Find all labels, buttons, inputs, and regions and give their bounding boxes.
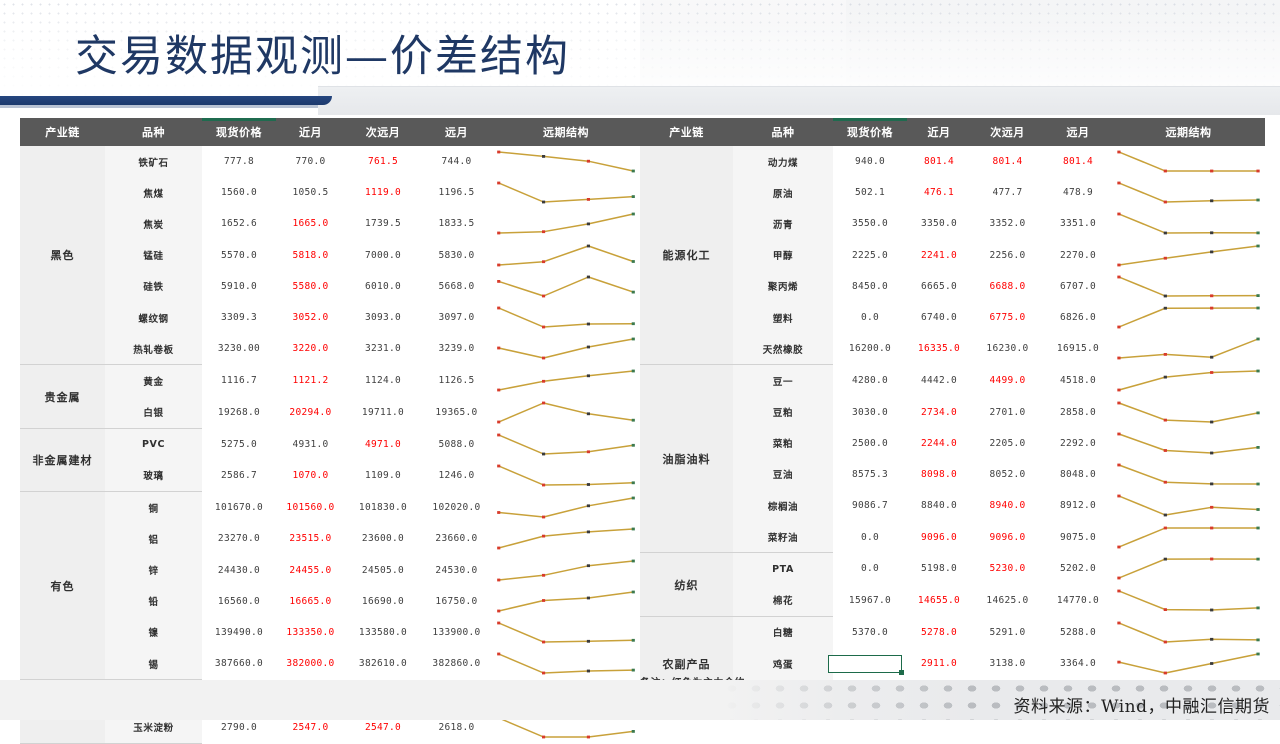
futures-price-table: 产业链品种现货价格近月次远月远月远期结构能源化工动力煤940.0801.4801… [640, 118, 1265, 711]
table-row[interactable]: 菜籽油0.09096.09096.09075.0 [640, 521, 1265, 553]
price-cell-mid: 3138.0 [971, 648, 1044, 679]
forward-curve-sparkline [1112, 241, 1265, 270]
variety-cell: 白银 [105, 397, 202, 429]
price-cell-far: 102020.0 [421, 492, 492, 524]
source-credit: 资料来源：Wind，中融汇信期货 [1014, 692, 1270, 717]
variety-cell: 棕榈油 [733, 490, 833, 521]
forward-curve-sparkline [1112, 523, 1265, 552]
variety-cell: 聚丙烯 [733, 271, 833, 302]
forward-curve-sparkline [492, 587, 640, 616]
price-cell-far: 2858.0 [1044, 397, 1112, 428]
price-cell-far: 3239.0 [421, 333, 492, 365]
price-cell-far: 16750.0 [421, 586, 492, 617]
price-cell-mid: 1124.0 [345, 365, 421, 397]
forward-curve-sparkline [1112, 147, 1265, 176]
table-row[interactable]: 焦炭1652.61665.01739.51833.5 [20, 208, 640, 239]
price-cell-mid: 6688.0 [971, 271, 1044, 302]
chain-cell: 贵金属 [20, 365, 105, 428]
forward-curve-sparkline [492, 303, 640, 332]
column-header-1[interactable]: 品种 [105, 118, 202, 146]
price-cell-mid: 9096.0 [971, 521, 1044, 553]
price-cell-spot: 16200.0 [833, 333, 907, 365]
price-cell-spot: 3550.0 [833, 208, 907, 239]
price-cell-far: 5288.0 [1044, 616, 1112, 648]
price-cell-near: 14655.0 [907, 585, 971, 617]
forward-curve-sparkline [492, 493, 640, 522]
forward-curve-sparkline [1112, 398, 1265, 427]
price-cell-near: 801.4 [907, 146, 971, 177]
variety-cell: 鸡蛋 [733, 648, 833, 679]
variety-cell: 豆粕 [733, 397, 833, 428]
sparkline-cell [1112, 397, 1265, 428]
chain-cell: 油脂油料 [640, 365, 733, 553]
price-cell-mid: 23600.0 [345, 523, 421, 554]
forward-curve-sparkline [492, 430, 640, 459]
variety-cell: 玻璃 [105, 460, 202, 492]
variety-cell: 热轧卷板 [105, 333, 202, 365]
table-header-row: 产业链品种现货价格近月次远月远月远期结构 [640, 118, 1265, 146]
table-row[interactable]: 热轧卷板3230.003220.03231.03239.0 [20, 333, 640, 365]
table-row[interactable]: 甲醇2225.02241.02256.02270.0 [640, 240, 1265, 271]
price-cell-spot: 19268.0 [202, 397, 276, 429]
price-cell-far: 6826.0 [1044, 302, 1112, 333]
variety-cell: 动力煤 [733, 146, 833, 177]
price-cell-mid: 2256.0 [971, 240, 1044, 271]
price-cell-spot: 1560.0 [202, 177, 276, 208]
sparkline-cell [492, 271, 640, 302]
forward-curve-sparkline [492, 334, 640, 363]
price-cell-spot: 16560.0 [202, 586, 276, 617]
table-row[interactable]: 铅16560.016665.016690.016750.0 [20, 586, 640, 617]
sparkline-cell [492, 208, 640, 239]
price-cell-mid: 4499.0 [971, 365, 1044, 397]
column-header-5[interactable]: 远月 [1044, 118, 1112, 146]
price-cell-far: 8912.0 [1044, 490, 1112, 521]
price-cell-far: 478.9 [1044, 177, 1112, 208]
sparkline-cell [1112, 428, 1265, 459]
price-cell-far: 19365.0 [421, 397, 492, 429]
price-cell-near: 6665.0 [907, 271, 971, 302]
chain-cell: 有色 [20, 492, 105, 680]
price-cell-mid: 5230.0 [971, 553, 1044, 585]
table-row[interactable]: 玻璃2586.71070.01109.01246.0 [20, 460, 640, 492]
variety-cell: 铝 [105, 523, 202, 554]
price-cell-spot: 24430.0 [202, 554, 276, 585]
sparkline-cell [492, 523, 640, 554]
table-row[interactable]: 锰硅5570.05818.07000.05830.0 [20, 240, 640, 271]
header-accent-bar [202, 118, 276, 121]
price-cell-near: 3350.0 [907, 208, 971, 239]
price-cell-mid: 5291.0 [971, 616, 1044, 648]
price-cell-spot: 8575.3 [833, 459, 907, 490]
table-row[interactable]: 能源化工动力煤940.0801.4801.4801.4 [640, 146, 1265, 177]
price-cell-far: 5830.0 [421, 240, 492, 271]
chain-cell: 非金属建材 [20, 428, 105, 491]
price-cell-mid: 3352.0 [971, 208, 1044, 239]
price-cell-far: 23660.0 [421, 523, 492, 554]
table-row[interactable]: 油脂油料豆一4280.04442.04499.04518.0 [640, 365, 1265, 397]
table-row[interactable]: 镍139490.0133350.0133580.0133900.0 [20, 617, 640, 648]
table-row[interactable]: 塑料0.06740.06775.06826.0 [640, 302, 1265, 333]
table-row[interactable]: 菜粕2500.02244.02205.02292.0 [640, 428, 1265, 459]
price-cell-near: 133350.0 [276, 617, 345, 648]
variety-cell: 镍 [105, 617, 202, 648]
price-cell-far: 1833.5 [421, 208, 492, 239]
price-cell-near: 24455.0 [276, 554, 345, 585]
price-cell-spot: 5570.0 [202, 240, 276, 271]
column-header-6[interactable]: 远期结构 [1112, 118, 1265, 146]
sparkline-cell [1112, 177, 1265, 208]
column-header-6[interactable]: 远期结构 [492, 118, 640, 146]
table-row[interactable]: 棉花15967.014655.014625.014770.0 [640, 585, 1265, 617]
price-cell-mid: 7000.0 [345, 240, 421, 271]
price-cell-near: 2241.0 [907, 240, 971, 271]
price-cell-far: 3097.0 [421, 302, 492, 333]
price-cell-near: 4931.0 [276, 428, 345, 460]
column-header-3[interactable]: 近月 [276, 118, 345, 146]
forward-curve-sparkline [492, 524, 640, 553]
price-cell-near: 3220.0 [276, 333, 345, 365]
column-header-2[interactable]: 现货价格 [202, 118, 276, 146]
price-cell-spot: 4280.0 [833, 365, 907, 397]
price-cell-far: 9075.0 [1044, 521, 1112, 553]
price-cell-far: 3364.0 [1044, 648, 1112, 679]
price-cell-mid: 1119.0 [345, 177, 421, 208]
table-row[interactable]: 白银19268.020294.019711.019365.0 [20, 397, 640, 429]
variety-cell: 甲醇 [733, 240, 833, 271]
futures-price-table: 产业链品种现货价格近月次远月远月远期结构黑色铁矿石777.8770.0761.5… [20, 118, 640, 744]
price-cell-near: 5198.0 [907, 553, 971, 585]
forward-curve-sparkline [1112, 178, 1265, 207]
price-cell-spot: 23270.0 [202, 523, 276, 554]
sparkline-cell [1112, 365, 1265, 397]
column-header-2[interactable]: 现货价格 [833, 118, 907, 146]
price-cell-mid: 477.7 [971, 177, 1044, 208]
forward-curve-sparkline [1112, 334, 1265, 363]
price-cell-mid: 2205.0 [971, 428, 1044, 459]
price-cell-mid: 2701.0 [971, 397, 1044, 428]
price-cell-mid: 101830.0 [345, 492, 421, 524]
table-row[interactable]: 有色铜101670.0101560.0101830.0102020.0 [20, 492, 640, 524]
sparkline-cell [1112, 553, 1265, 585]
sparkline-cell [492, 333, 640, 365]
price-cell-far: 2292.0 [1044, 428, 1112, 459]
price-cell-near: 1121.2 [276, 365, 345, 397]
price-cell-near: 5580.0 [276, 271, 345, 302]
price-cell-far: 3351.0 [1044, 208, 1112, 239]
sparkline-cell [1112, 271, 1265, 302]
table-row[interactable]: 棕榈油9086.78840.08940.08912.0 [640, 490, 1265, 521]
variety-cell: 原油 [733, 177, 833, 208]
forward-curve-sparkline [492, 398, 640, 427]
price-cell-near: 4442.0 [907, 365, 971, 397]
price-cell-spot: 8450.0 [833, 271, 907, 302]
price-cell-mid: 6775.0 [971, 302, 1044, 333]
price-cell-near: 8840.0 [907, 490, 971, 521]
forward-curve-sparkline [492, 366, 640, 395]
price-cell-near: 5818.0 [276, 240, 345, 271]
table-row[interactable]: 纺织PTA0.05198.05230.05202.0 [640, 553, 1265, 585]
price-cell-spot: 2225.0 [833, 240, 907, 271]
variety-cell: 棉花 [733, 585, 833, 617]
sparkline-cell [492, 586, 640, 617]
price-cell-spot: 3030.0 [833, 397, 907, 428]
table-row[interactable]: 豆粕3030.02734.02701.02858.0 [640, 397, 1265, 428]
variety-cell: 焦炭 [105, 208, 202, 239]
price-cell-spot: 9086.7 [833, 490, 907, 521]
forward-curve-sparkline [492, 649, 640, 678]
sparkline-cell [1112, 240, 1265, 271]
variety-cell: 塑料 [733, 302, 833, 333]
variety-cell: 黄金 [105, 365, 202, 397]
price-cell-spot: 502.1 [833, 177, 907, 208]
variety-cell: 菜粕 [733, 428, 833, 459]
price-cell-near: 20294.0 [276, 397, 345, 429]
price-cell-mid: 16690.0 [345, 586, 421, 617]
variety-cell: 焦煤 [105, 177, 202, 208]
price-cell-spot: 15967.0 [833, 585, 907, 617]
price-cell-mid: 4971.0 [345, 428, 421, 460]
forward-curve-sparkline [492, 618, 640, 647]
price-cell-far: 2270.0 [1044, 240, 1112, 271]
price-cell-mid: 16230.0 [971, 333, 1044, 365]
sparkline-cell [1112, 585, 1265, 617]
column-header-4[interactable]: 次远月 [971, 118, 1044, 146]
price-cell-spot: 387660.0 [202, 648, 276, 680]
price-cell-far: 1196.5 [421, 177, 492, 208]
price-cell-near: 3052.0 [276, 302, 345, 333]
sparkline-cell [1112, 208, 1265, 239]
table-row[interactable]: 天然橡胶16200.016335.016230.016915.0 [640, 333, 1265, 365]
variety-cell: 锡 [105, 648, 202, 680]
price-cell-spot: 1116.7 [202, 365, 276, 397]
price-cell-far: 4518.0 [1044, 365, 1112, 397]
price-cell-near: 6740.0 [907, 302, 971, 333]
price-cell-mid: 24505.0 [345, 554, 421, 585]
table-row[interactable]: 焦煤1560.01050.51119.01196.5 [20, 177, 640, 208]
column-header-4[interactable]: 次远月 [345, 118, 421, 146]
table-row[interactable]: 锌24430.024455.024505.024530.0 [20, 554, 640, 585]
variety-cell: 豆一 [733, 365, 833, 397]
sparkline-cell [1112, 459, 1265, 490]
price-cell-spot: 139490.0 [202, 617, 276, 648]
price-cell-near: 382000.0 [276, 648, 345, 680]
price-cell-spot: 5910.0 [202, 271, 276, 302]
variety-cell: 锌 [105, 554, 202, 585]
forward-curve-sparkline [1112, 272, 1265, 301]
table-row[interactable]: 硅铁5910.05580.06010.05668.0 [20, 271, 640, 302]
table-row[interactable]: 原油502.1476.1477.7478.9 [640, 177, 1265, 208]
forward-curve-sparkline [492, 556, 640, 585]
forward-curve-sparkline [1112, 618, 1265, 647]
price-cell-mid: 133580.0 [345, 617, 421, 648]
table-row[interactable]: 锡387660.0382000.0382610.0382860.0 [20, 648, 640, 680]
price-cell-spot: 3309.3 [202, 302, 276, 333]
price-cell-near: 476.1 [907, 177, 971, 208]
price-cell-spot: 0.0 [833, 553, 907, 585]
forward-curve-sparkline [1112, 366, 1265, 395]
sparkline-cell [492, 146, 640, 177]
sparkline-cell [1112, 146, 1265, 177]
sparkline-cell [1112, 302, 1265, 333]
column-header-5[interactable]: 远月 [421, 118, 492, 146]
sparkline-cell [492, 240, 640, 271]
forward-curve-sparkline [492, 461, 640, 490]
variety-cell: 天然橡胶 [733, 333, 833, 365]
price-cell-far: 5088.0 [421, 428, 492, 460]
column-header-0[interactable]: 产业链 [640, 118, 733, 146]
variety-cell: 螺纹钢 [105, 302, 202, 333]
chain-cell: 能源化工 [640, 146, 733, 365]
table-row[interactable]: 螺纹钢3309.33052.03093.03097.0 [20, 302, 640, 333]
table-row[interactable]: 贵金属黄金1116.71121.21124.01126.5 [20, 365, 640, 397]
slide-root: 交易数据观测—价差结构 产业链品种现货价格近月次远月远月远期结构黑色铁矿石777… [0, 0, 1280, 720]
price-cell-near: 5278.0 [907, 616, 971, 648]
page-title: 交易数据观测—价差结构 [75, 32, 570, 82]
sparkline-cell [492, 397, 640, 429]
forward-curve-sparkline [1112, 554, 1265, 583]
variety-cell: PVC [105, 428, 202, 460]
price-cell-mid: 19711.0 [345, 397, 421, 429]
price-cell-spot: 5370.0 [833, 616, 907, 648]
price-cell-near: 16665.0 [276, 586, 345, 617]
variety-cell: 铜 [105, 492, 202, 524]
sparkline-cell [1112, 521, 1265, 553]
price-cell-mid: 14625.0 [971, 585, 1044, 617]
chain-cell: 纺织 [640, 553, 733, 616]
price-cell-near: 16335.0 [907, 333, 971, 365]
variety-cell: 铁矿石 [105, 146, 202, 177]
variety-cell: 锰硅 [105, 240, 202, 271]
variety-cell: 豆油 [733, 459, 833, 490]
table-row[interactable]: 豆油8575.38098.08052.08048.0 [640, 459, 1265, 490]
price-cell-far: 5202.0 [1044, 553, 1112, 585]
price-cell-near: 23515.0 [276, 523, 345, 554]
column-header-3[interactable]: 近月 [907, 118, 971, 146]
price-cell-near: 9096.0 [907, 521, 971, 553]
forward-curve-sparkline [492, 147, 640, 176]
table-row[interactable]: 铝23270.023515.023600.023660.0 [20, 523, 640, 554]
price-cell-spot: 777.8 [202, 146, 276, 177]
variety-cell: 铅 [105, 586, 202, 617]
price-cell-spot: 101670.0 [202, 492, 276, 524]
price-cell-spot: 2586.7 [202, 460, 276, 492]
forward-curve-sparkline [492, 272, 640, 301]
sparkline-cell [492, 617, 640, 648]
table-row[interactable]: 黑色铁矿石777.8770.0761.5744.0 [20, 146, 640, 177]
price-cell-far: 133900.0 [421, 617, 492, 648]
price-cell-spot: 0.0 [833, 521, 907, 553]
price-cell-far: 382860.0 [421, 648, 492, 680]
price-cell-mid: 3231.0 [345, 333, 421, 365]
sparkline-cell [1112, 616, 1265, 648]
forward-curve-sparkline [1112, 429, 1265, 458]
price-cell-mid: 8052.0 [971, 459, 1044, 490]
forward-curve-sparkline [1112, 586, 1265, 615]
price-cell-near: 1050.5 [276, 177, 345, 208]
table-row[interactable]: 非金属建材PVC5275.04931.04971.05088.0 [20, 428, 640, 460]
price-cell-spot: 3230.00 [202, 333, 276, 365]
selected-cell-outline[interactable] [828, 655, 902, 673]
forward-curve-sparkline [492, 209, 640, 238]
price-cell-far: 14770.0 [1044, 585, 1112, 617]
price-cell-mid: 761.5 [345, 146, 421, 177]
price-cell-far: 801.4 [1044, 146, 1112, 177]
price-cell-near: 1070.0 [276, 460, 345, 492]
sparkline-cell [1112, 333, 1265, 365]
column-header-0[interactable]: 产业链 [20, 118, 105, 146]
price-cell-mid: 1109.0 [345, 460, 421, 492]
price-cell-far: 1246.0 [421, 460, 492, 492]
variety-cell: PTA [733, 553, 833, 585]
price-cell-near: 1665.0 [276, 208, 345, 239]
price-cell-far: 16915.0 [1044, 333, 1112, 365]
price-table-left: 产业链品种现货价格近月次远月远月远期结构黑色铁矿石777.8770.0761.5… [20, 118, 640, 744]
price-cell-near: 2734.0 [907, 397, 971, 428]
sparkline-cell [1112, 490, 1265, 521]
price-cell-near: 101560.0 [276, 492, 345, 524]
sparkline-cell [492, 302, 640, 333]
price-cell-mid: 382610.0 [345, 648, 421, 680]
sparkline-cell [492, 365, 640, 397]
forward-curve-sparkline [1112, 491, 1265, 520]
variety-cell: 沥青 [733, 208, 833, 239]
price-cell-mid: 1739.5 [345, 208, 421, 239]
price-cell-spot: 940.0 [833, 146, 907, 177]
price-cell-near: 770.0 [276, 146, 345, 177]
price-cell-far: 8048.0 [1044, 459, 1112, 490]
column-header-1[interactable]: 品种 [733, 118, 833, 146]
sparkline-cell [1112, 648, 1265, 679]
forward-curve-sparkline [1112, 303, 1265, 332]
variety-cell: 硅铁 [105, 271, 202, 302]
price-cell-far: 24530.0 [421, 554, 492, 585]
variety-cell: 菜籽油 [733, 521, 833, 553]
table-row[interactable]: 农副产品白糖5370.05278.05291.05288.0 [640, 616, 1265, 648]
price-cell-mid: 801.4 [971, 146, 1044, 177]
price-cell-spot: 0.0 [833, 302, 907, 333]
title-underline-bar-light [0, 105, 318, 108]
sparkline-cell [492, 177, 640, 208]
sparkline-cell [492, 648, 640, 680]
title-underline-bar [0, 96, 332, 105]
sparkline-cell [492, 428, 640, 460]
price-cell-far: 744.0 [421, 146, 492, 177]
sparkline-cell [492, 460, 640, 492]
forward-curve-sparkline [1112, 649, 1265, 678]
forward-curve-sparkline [1112, 209, 1265, 238]
forward-curve-sparkline [492, 241, 640, 270]
price-cell-near: 8098.0 [907, 459, 971, 490]
sparkline-cell [492, 492, 640, 524]
variety-cell: 白糖 [733, 616, 833, 648]
price-cell-mid: 6010.0 [345, 271, 421, 302]
table-row[interactable]: 聚丙烯8450.06665.06688.06707.0 [640, 271, 1265, 302]
price-cell-spot: 1652.6 [202, 208, 276, 239]
price-cell-far: 6707.0 [1044, 271, 1112, 302]
forward-curve-sparkline [1112, 460, 1265, 489]
price-cell-far: 5668.0 [421, 271, 492, 302]
price-cell-mid: 8940.0 [971, 490, 1044, 521]
price-cell-spot: 2500.0 [833, 428, 907, 459]
price-cell-near: 2911.0 [907, 648, 971, 679]
price-cell-far: 1126.5 [421, 365, 492, 397]
header-accent-bar [833, 118, 907, 121]
table-row[interactable]: 沥青3550.03350.03352.03351.0 [640, 208, 1265, 239]
header-shelf [318, 86, 1280, 115]
sparkline-cell [492, 554, 640, 585]
price-table-right: 产业链品种现货价格近月次远月远月远期结构能源化工动力煤940.0801.4801… [640, 118, 1265, 711]
